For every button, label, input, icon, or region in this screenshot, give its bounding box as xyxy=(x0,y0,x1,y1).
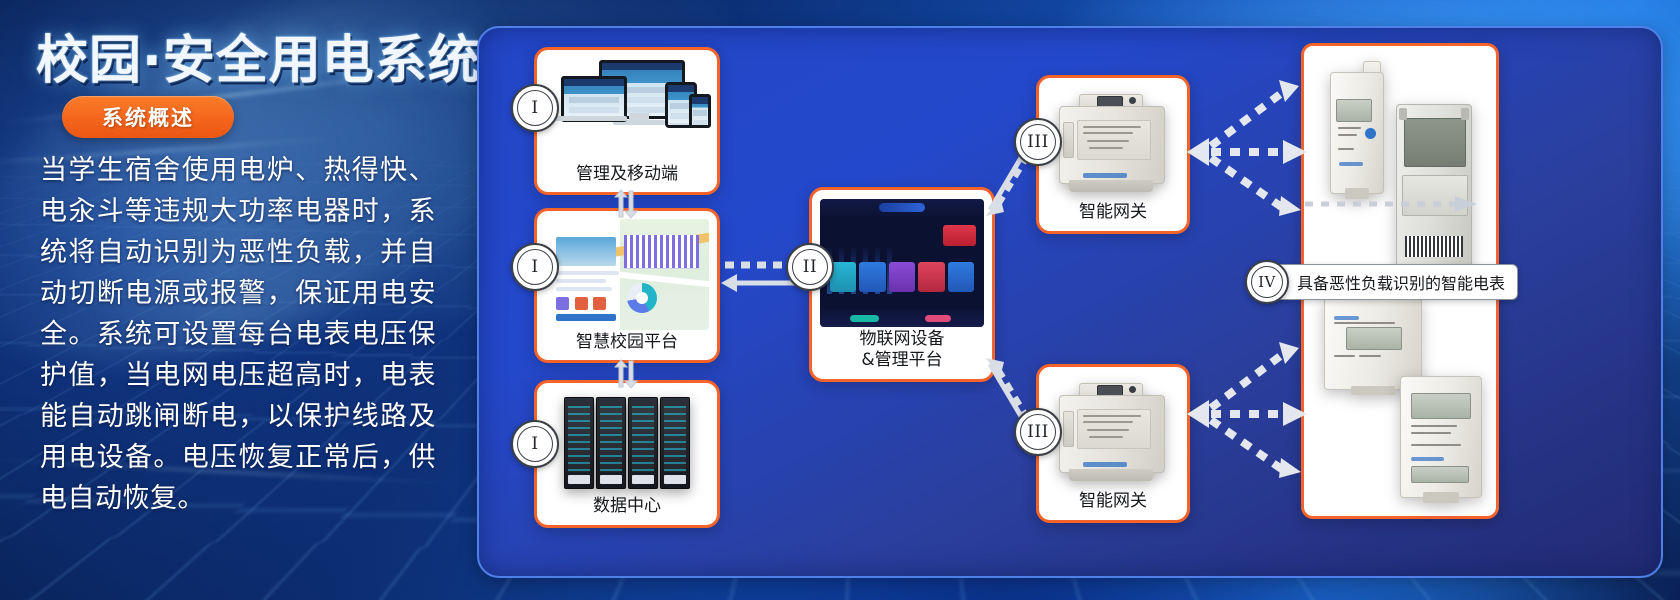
node-label: 智能网关 xyxy=(1039,202,1187,223)
meters-group-label-text: 具备恶性负载识别的智能电表 xyxy=(1297,270,1505,294)
din-rail-meter-three-phase xyxy=(1400,376,1482,498)
iot-dashboard-icon xyxy=(812,197,992,329)
left-text-column: 校园·安全用电系统 系统概述 当学生宿舍使用电炉、热得快、电汆斗等违规大功率电器… xyxy=(0,0,470,600)
connector-mgmt-campus xyxy=(610,178,640,230)
section-badge: 系统概述 xyxy=(62,96,234,138)
meters-group-label[interactable]: IV 具备恶性负载识别的智能电表 xyxy=(1262,264,1518,300)
connector-gateway-top-meters xyxy=(1179,76,1311,208)
diagram-panel: 管理及移动端 I xyxy=(477,26,1663,578)
numeral-badge-smart-campus: I xyxy=(511,243,559,291)
connector-meters-internal xyxy=(1305,194,1491,214)
multi-device-screens-icon xyxy=(537,56,717,164)
node-management-mobile[interactable]: 管理及移动端 xyxy=(534,47,720,195)
node-smart-gateway-bottom[interactable]: 智能网关 xyxy=(1036,364,1190,523)
description-paragraph: 当学生宿舍使用电炉、热得快、电汆斗等违规大功率电器时，系统将自动识别为恶性负载，… xyxy=(40,150,436,519)
node-smart-gateway-top[interactable]: 智能网关 xyxy=(1036,75,1190,234)
node-label-line2: &管理平台 xyxy=(812,350,992,371)
campus-dashboard-icon xyxy=(537,217,717,332)
connector-gateway-bottom-meters xyxy=(1179,338,1311,470)
node-label: 智能网关 xyxy=(1039,491,1187,512)
numeral-badge-gateway-bottom: III xyxy=(1014,408,1062,456)
numeral-badge-management-mobile: I xyxy=(511,84,559,132)
numeral-badge-iot-platform: II xyxy=(786,243,834,291)
section-badge-label: 系统概述 xyxy=(102,102,194,132)
poster-canvas: 校园·安全用电系统 系统概述 当学生宿舍使用电炉、热得快、电汆斗等违规大功率电器… xyxy=(0,0,1680,600)
numeral-badge-meters: IV xyxy=(1245,260,1289,304)
node-data-center[interactable]: 数据中心 xyxy=(534,380,720,528)
server-rack-icon xyxy=(537,389,717,496)
node-smart-campus[interactable]: 智慧校园平台 xyxy=(534,208,720,363)
numeral-badge-data-center: I xyxy=(511,420,559,468)
node-iot-platform[interactable]: 物联网设备 &管理平台 xyxy=(809,187,995,382)
numeral-badge-gateway-top: III xyxy=(1014,118,1062,166)
node-label-line1: 物联网设备 xyxy=(812,329,992,350)
panel-meter-grey xyxy=(1396,104,1472,282)
din-rail-meter-single-phase xyxy=(1330,72,1384,194)
connector-campus-datacenter xyxy=(610,348,640,400)
node-label: 数据中心 xyxy=(537,496,717,517)
page-title: 校园·安全用电系统 xyxy=(36,18,481,93)
